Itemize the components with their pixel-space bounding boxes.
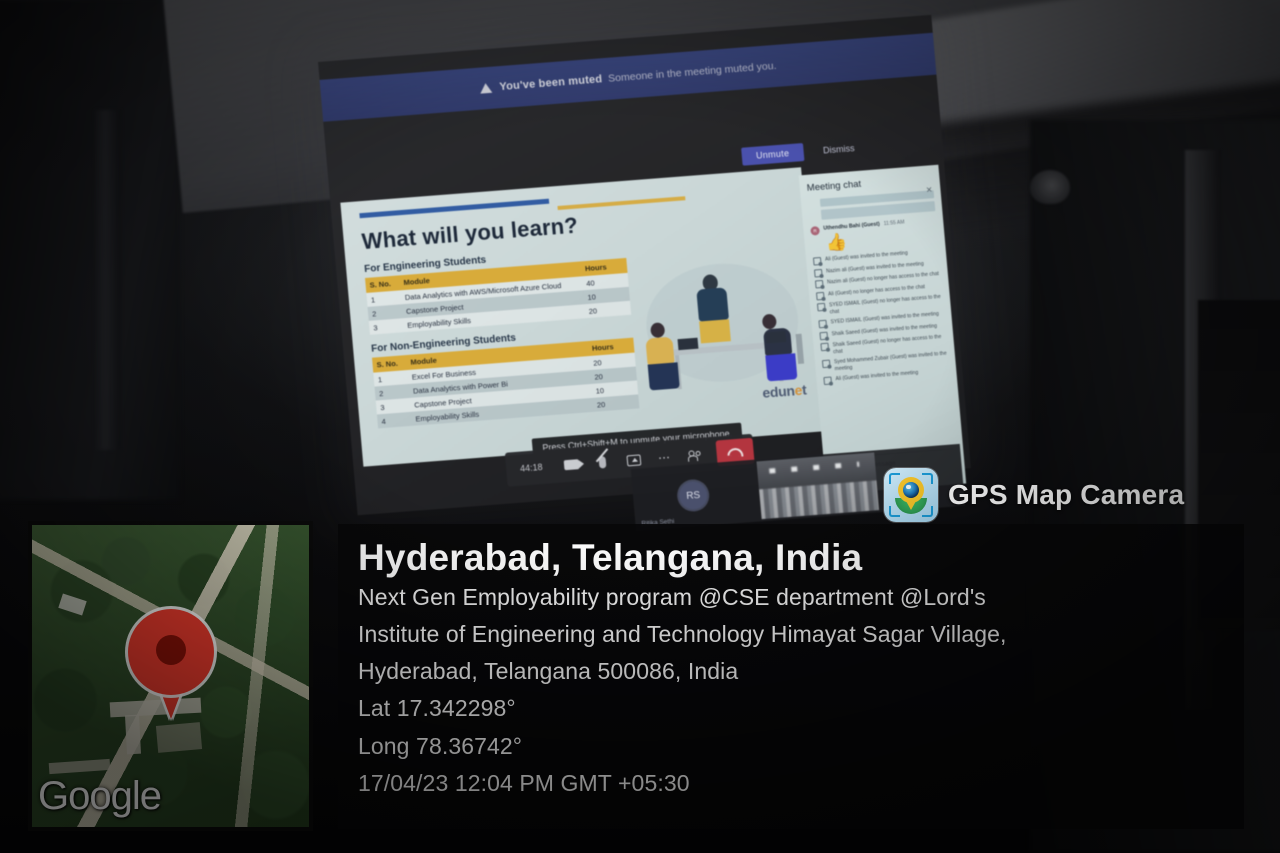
frame-corner-icon (889, 473, 900, 484)
meeting-timer: 44:18 (506, 461, 557, 475)
screenshot-root: You've been muted Someone in the meeting… (0, 0, 1280, 853)
map-thumbnail[interactable]: Google (28, 521, 313, 831)
projected-screen: You've been muted Someone in the meeting… (318, 15, 971, 515)
person-removed-icon (815, 280, 824, 289)
more-options-icon[interactable]: ⋯ (648, 449, 680, 465)
microphone-muted-icon[interactable] (587, 455, 619, 469)
person-added-icon (823, 377, 832, 386)
presentation-slide: What will you learn? For Engineering Stu… (340, 167, 824, 466)
person-added-icon (818, 320, 827, 329)
left-wall (0, 0, 180, 500)
figure-head (650, 322, 665, 338)
room-ceiling-lights (769, 462, 859, 474)
map-pin-icon (898, 477, 924, 503)
person-added-icon (822, 360, 831, 369)
figure-legs (765, 353, 797, 381)
capture-timestamp: 17/04/23 12:04 PM GMT +05:30 (358, 765, 1224, 802)
seated-figure-right (762, 312, 798, 381)
presenter-legs (699, 319, 731, 343)
room-audience (759, 480, 879, 519)
latitude-value: Lat 17.342298° (358, 690, 1224, 727)
laptop-right (765, 331, 786, 343)
wall-column (95, 110, 121, 450)
edunet-logo: edunet (762, 382, 807, 401)
slide-illustration: edunet (635, 254, 813, 412)
person-removed-icon (820, 343, 829, 352)
figure-legs (648, 362, 680, 390)
cell-serial: 3 (369, 318, 404, 335)
address-line-2: Institute of Engineering and Technology … (358, 616, 1224, 653)
muted-banner-message: Someone in the meeting muted you. (608, 60, 777, 85)
pin-body (128, 609, 214, 695)
camera-lens-icon (903, 482, 919, 498)
map-building (58, 594, 86, 616)
muted-banner-title: You've been muted (499, 73, 603, 93)
frame-corner-icon (922, 473, 933, 484)
unmute-button[interactable]: Unmute (741, 143, 804, 166)
warning-triangle-icon (479, 83, 492, 94)
person-added-icon (814, 268, 823, 277)
ceiling-speaker (1030, 170, 1070, 204)
person-removed-icon (817, 303, 826, 312)
satellite-map: Google (32, 525, 309, 827)
chat-timestamp: 11:55 AM (884, 219, 905, 227)
map-building (48, 758, 110, 773)
person-added-icon (813, 257, 822, 266)
address-line-3: Hyderabad, Telangana 500086, India (358, 653, 1224, 690)
avatar: RS (678, 480, 708, 510)
person-added-icon (819, 331, 828, 340)
google-watermark: Google (38, 774, 161, 819)
geotag-info-panel: Hyderabad, Telangana, India Next Gen Emp… (338, 524, 1244, 829)
figure-torso (645, 337, 674, 365)
location-title: Hyderabad, Telangana, India (358, 538, 1224, 579)
camera-icon[interactable] (556, 459, 588, 471)
chat-system-message-list: Ali (Guest) was invited to the meeting N… (813, 248, 950, 385)
chair-right (796, 334, 805, 364)
cell-serial: 4 (377, 412, 412, 429)
person-removed-icon (816, 291, 825, 300)
system-message: Ali (Guest) was invited to the meeting (825, 250, 908, 263)
map-building (125, 715, 141, 755)
map-location-pin-icon (128, 609, 214, 695)
gps-map-camera-title: GPS Map Camera (948, 479, 1184, 511)
participant-tile-room[interactable] (756, 452, 879, 519)
slide-rule-blue (359, 199, 549, 219)
banner-actions: Unmute Dismiss (741, 138, 865, 165)
system-message: Ali (Guest) was invited to the meeting (835, 370, 918, 383)
address-line-1: Next Gen Employability program @CSE depa… (358, 579, 1224, 616)
dismiss-button[interactable]: Dismiss (812, 138, 865, 160)
gps-map-camera-logo (884, 468, 938, 522)
pin-center-dot (156, 635, 186, 665)
cell-hours: 20 (584, 301, 631, 318)
share-screen-icon[interactable] (618, 453, 650, 466)
gps-map-camera-branding: GPS Map Camera (884, 468, 1184, 522)
map-building (156, 722, 203, 753)
figure-head (762, 314, 777, 330)
avatar: R (810, 226, 820, 236)
people-icon[interactable] (679, 449, 711, 462)
participant-tile-avatar[interactable]: RS Ritika Sethi (631, 460, 756, 531)
teams-meeting-window: You've been muted Someone in the meeting… (318, 15, 971, 515)
longitude-value: Long 78.36742° (358, 728, 1224, 765)
laptop-left (678, 338, 699, 350)
presenter-torso (696, 287, 729, 321)
cell-hours: 20 (592, 394, 639, 411)
close-icon[interactable]: ✕ (925, 185, 932, 194)
